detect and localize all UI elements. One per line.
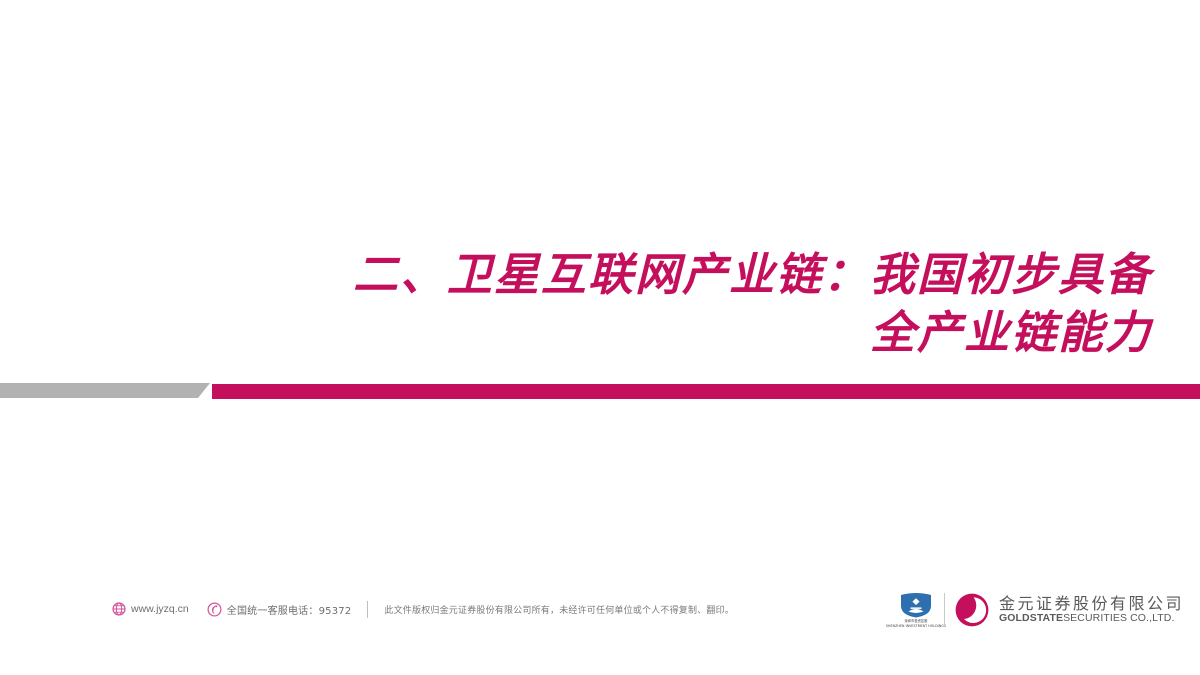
footer: www.jyzq.cn 全国统一客服电话：95372 此文件版权归金元证券股份有… [0,580,1200,675]
footer-logo-lockup: 深圳市投资控股 SHENZHEN INVESTMENT HOLDINGS 金元证… [893,584,1184,636]
logo-separator [944,593,945,627]
divider-accent-bar [212,384,1200,399]
partner-logo-caption-cn: 深圳市投资控股 [904,619,927,623]
brand-name-cn: 金元证券股份有限公司 [999,596,1184,613]
footer-website-label: www.jyzq.cn [131,603,189,615]
footer-website[interactable]: www.jyzq.cn [112,602,189,616]
footer-disclaimer: 此文件版权归金元证券股份有限公司所有，未经许可任何单位或个人不得复制、翻印。 [384,603,734,616]
brand-name-en-rest: SECURITIES CO.,LTD. [1063,612,1174,624]
slide-title: 二、卫星互联网产业链：我国初步具备 全产业链能力 [0,246,1152,362]
brand-name-en: GOLDSTATESECURITIES CO.,LTD. [999,613,1184,624]
footer-hotline[interactable]: 全国统一客服电话：95372 [207,602,352,617]
globe-icon [112,602,126,616]
divider [0,383,1200,401]
divider-gray-bar [0,383,210,398]
partner-logo-caption-en: SHENZHEN INVESTMENT HOLDINGS [886,624,946,628]
footer-info-group: www.jyzq.cn 全国统一客服电话：95372 此文件版权归金元证券股份有… [112,598,734,620]
footer-hotline-label: 全国统一客服电话：95372 [227,602,352,617]
blue-shield-emblem-icon [899,592,933,618]
partner-logo: 深圳市投资控股 SHENZHEN INVESTMENT HOLDINGS [893,592,939,628]
phone-circle-icon [207,602,222,617]
brand-name-en-bold: GOLDSTATE [999,612,1063,624]
footer-divider-line [367,601,368,618]
brand-name-block: 金元证券股份有限公司 GOLDSTATESECURITIES CO.,LTD. [999,596,1184,625]
crescent-star-icon [954,592,990,628]
title-line-1: 二、卫星互联网产业链：我国初步具备 [0,246,1152,304]
slide-canvas: 二、卫星互联网产业链：我国初步具备 全产业链能力 www.jyzq.cn [0,0,1200,675]
title-line-2: 全产业链能力 [0,304,1152,362]
